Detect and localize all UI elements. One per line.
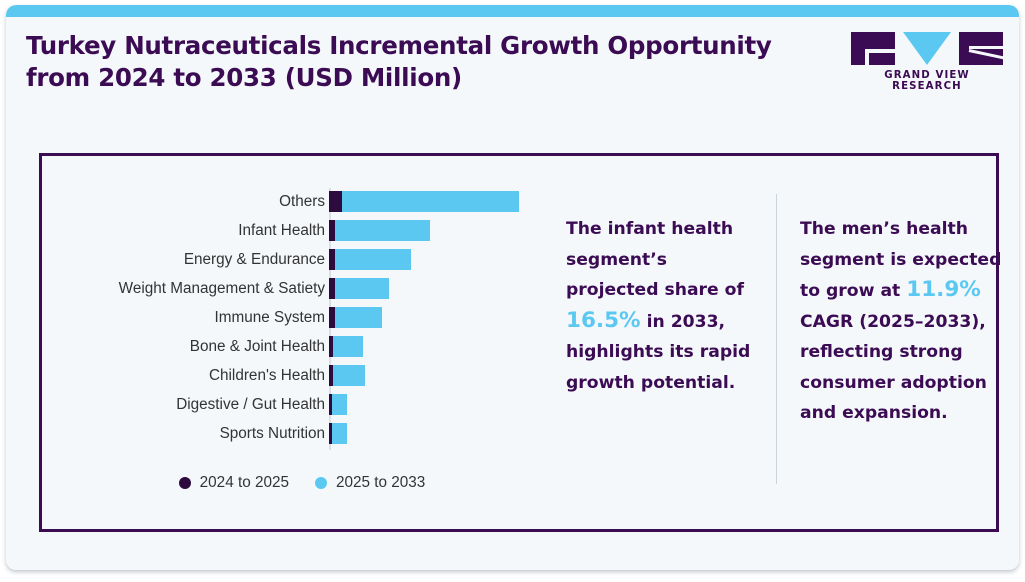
- bar-segment-2025-2033: [335, 307, 382, 328]
- callout-left-stat: 16.5%: [566, 308, 641, 333]
- infographic-card: Turkey Nutraceuticals Incremental Growth…: [6, 5, 1019, 570]
- legend-label: 2025 to 2033: [336, 474, 425, 492]
- bar-track: [329, 191, 519, 212]
- bar-row: Immune System: [42, 304, 562, 333]
- logo-letter-g-icon: [851, 32, 895, 65]
- bar-track: [329, 336, 363, 357]
- page-title-line-1: Turkey Nutraceuticals Incremental Growth…: [26, 30, 796, 62]
- legend-dot-icon: [315, 477, 327, 489]
- bar-track: [329, 394, 347, 415]
- bar-segment-2025-2033: [342, 191, 519, 212]
- logo-letter-r-icon: [959, 32, 1003, 65]
- legend-dot-icon: [179, 477, 191, 489]
- brand-logo: GRAND VIEW RESEARCH: [851, 32, 1003, 88]
- bar-row: Digestive / Gut Health: [42, 391, 562, 420]
- callout-mens-health: The men’s health segment is expected to …: [800, 214, 1010, 429]
- callout-divider: [776, 194, 777, 484]
- bar-label: Others: [279, 192, 325, 212]
- bar-segment-2025-2033: [332, 423, 347, 444]
- header: Turkey Nutraceuticals Incremental Growth…: [6, 17, 1019, 117]
- bar-row: Infant Health: [42, 217, 562, 246]
- bar-row: Energy & Endurance: [42, 246, 562, 275]
- bar-chart: OthersInfant HealthEnergy & EnduranceWei…: [42, 188, 562, 450]
- top-accent-bar: [6, 5, 1019, 17]
- bar-rows: OthersInfant HealthEnergy & EnduranceWei…: [42, 188, 562, 449]
- bar-segment-2024-2025: [329, 191, 342, 212]
- bar-segment-2025-2033: [333, 336, 363, 357]
- bar-label: Infant Health: [238, 221, 325, 241]
- callout-right-stat: 11.9%: [906, 277, 981, 302]
- bar-label: Children's Health: [209, 366, 325, 386]
- callout-infant-health: The infant health segment’s projected sh…: [566, 214, 756, 398]
- chart-panel: OthersInfant HealthEnergy & EnduranceWei…: [39, 153, 999, 532]
- bar-label: Weight Management & Satiety: [119, 279, 325, 299]
- bar-row: Children's Health: [42, 362, 562, 391]
- bar-segment-2025-2033: [335, 220, 430, 241]
- page-title-line-2: from 2024 to 2033 (USD Million): [26, 62, 796, 94]
- bar-row: Bone & Joint Health: [42, 333, 562, 362]
- logo-marks: [851, 32, 1003, 68]
- bar-row: Sports Nutrition: [42, 420, 562, 449]
- bar-track: [329, 423, 347, 444]
- bar-segment-2025-2033: [335, 278, 389, 299]
- page-title: Turkey Nutraceuticals Incremental Growth…: [26, 30, 796, 94]
- legend-item: 2024 to 2025: [179, 474, 289, 492]
- bar-label: Immune System: [214, 308, 325, 328]
- chart-legend: 2024 to 20252025 to 2033: [42, 474, 562, 492]
- logo-wordmark: GRAND VIEW RESEARCH: [851, 70, 1003, 92]
- bar-label: Bone & Joint Health: [190, 337, 325, 357]
- bar-track: [329, 249, 411, 270]
- bar-row: Weight Management & Satiety: [42, 275, 562, 304]
- bar-row: Others: [42, 188, 562, 217]
- callout-left-pre-text: The infant health segment’s projected sh…: [566, 219, 744, 300]
- bar-label: Sports Nutrition: [220, 424, 325, 444]
- bar-track: [329, 307, 382, 328]
- bar-segment-2025-2033: [333, 365, 365, 386]
- bar-segment-2025-2033: [332, 394, 347, 415]
- bar-track: [329, 220, 430, 241]
- bar-segment-2025-2033: [335, 249, 411, 270]
- callout-right-post-text: CAGR (2025–2033), reflecting strong cons…: [800, 312, 987, 424]
- legend-item: 2025 to 2033: [315, 474, 425, 492]
- bar-label: Energy & Endurance: [184, 250, 325, 270]
- bar-track: [329, 365, 365, 386]
- bar-label: Digestive / Gut Health: [176, 395, 325, 415]
- legend-label: 2024 to 2025: [200, 474, 289, 492]
- bar-track: [329, 278, 389, 299]
- logo-letter-v-icon: [903, 32, 951, 65]
